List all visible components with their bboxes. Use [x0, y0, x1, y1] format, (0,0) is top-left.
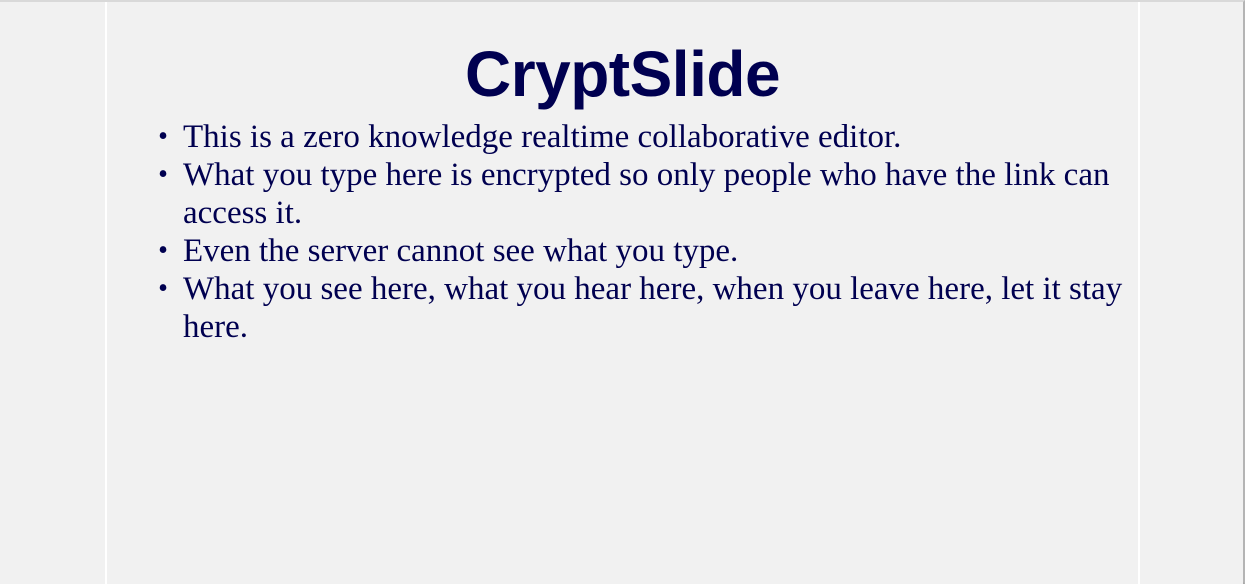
- list-item[interactable]: • What you see here, what you hear here,…: [152, 270, 1137, 346]
- right-gutter: [1140, 2, 1243, 584]
- list-item[interactable]: • What you type here is encrypted so onl…: [152, 156, 1137, 232]
- slide-page[interactable]: CryptSlide • This is a zero knowledge re…: [105, 2, 1140, 584]
- slide-content[interactable]: CryptSlide • This is a zero knowledge re…: [107, 2, 1138, 584]
- slide-title[interactable]: CryptSlide: [107, 38, 1138, 110]
- list-item-text[interactable]: What you see here, what you hear here, w…: [183, 270, 1137, 346]
- list-item[interactable]: • This is a zero knowledge realtime coll…: [152, 118, 1137, 156]
- bullet-list[interactable]: • This is a zero knowledge realtime coll…: [152, 118, 1137, 346]
- list-item-text[interactable]: This is a zero knowledge realtime collab…: [183, 118, 1137, 156]
- list-item[interactable]: • Even the server cannot see what you ty…: [152, 232, 1137, 270]
- bullet-point-icon: •: [156, 156, 170, 194]
- bullet-point-icon: •: [156, 118, 170, 156]
- left-gutter: [0, 2, 105, 584]
- list-item-text[interactable]: Even the server cannot see what you type…: [183, 232, 1137, 270]
- bullet-point-icon: •: [156, 270, 170, 308]
- list-item-text[interactable]: What you type here is encrypted so only …: [183, 156, 1137, 232]
- bullet-point-icon: •: [156, 232, 170, 270]
- slide-viewport: CryptSlide • This is a zero knowledge re…: [0, 0, 1245, 584]
